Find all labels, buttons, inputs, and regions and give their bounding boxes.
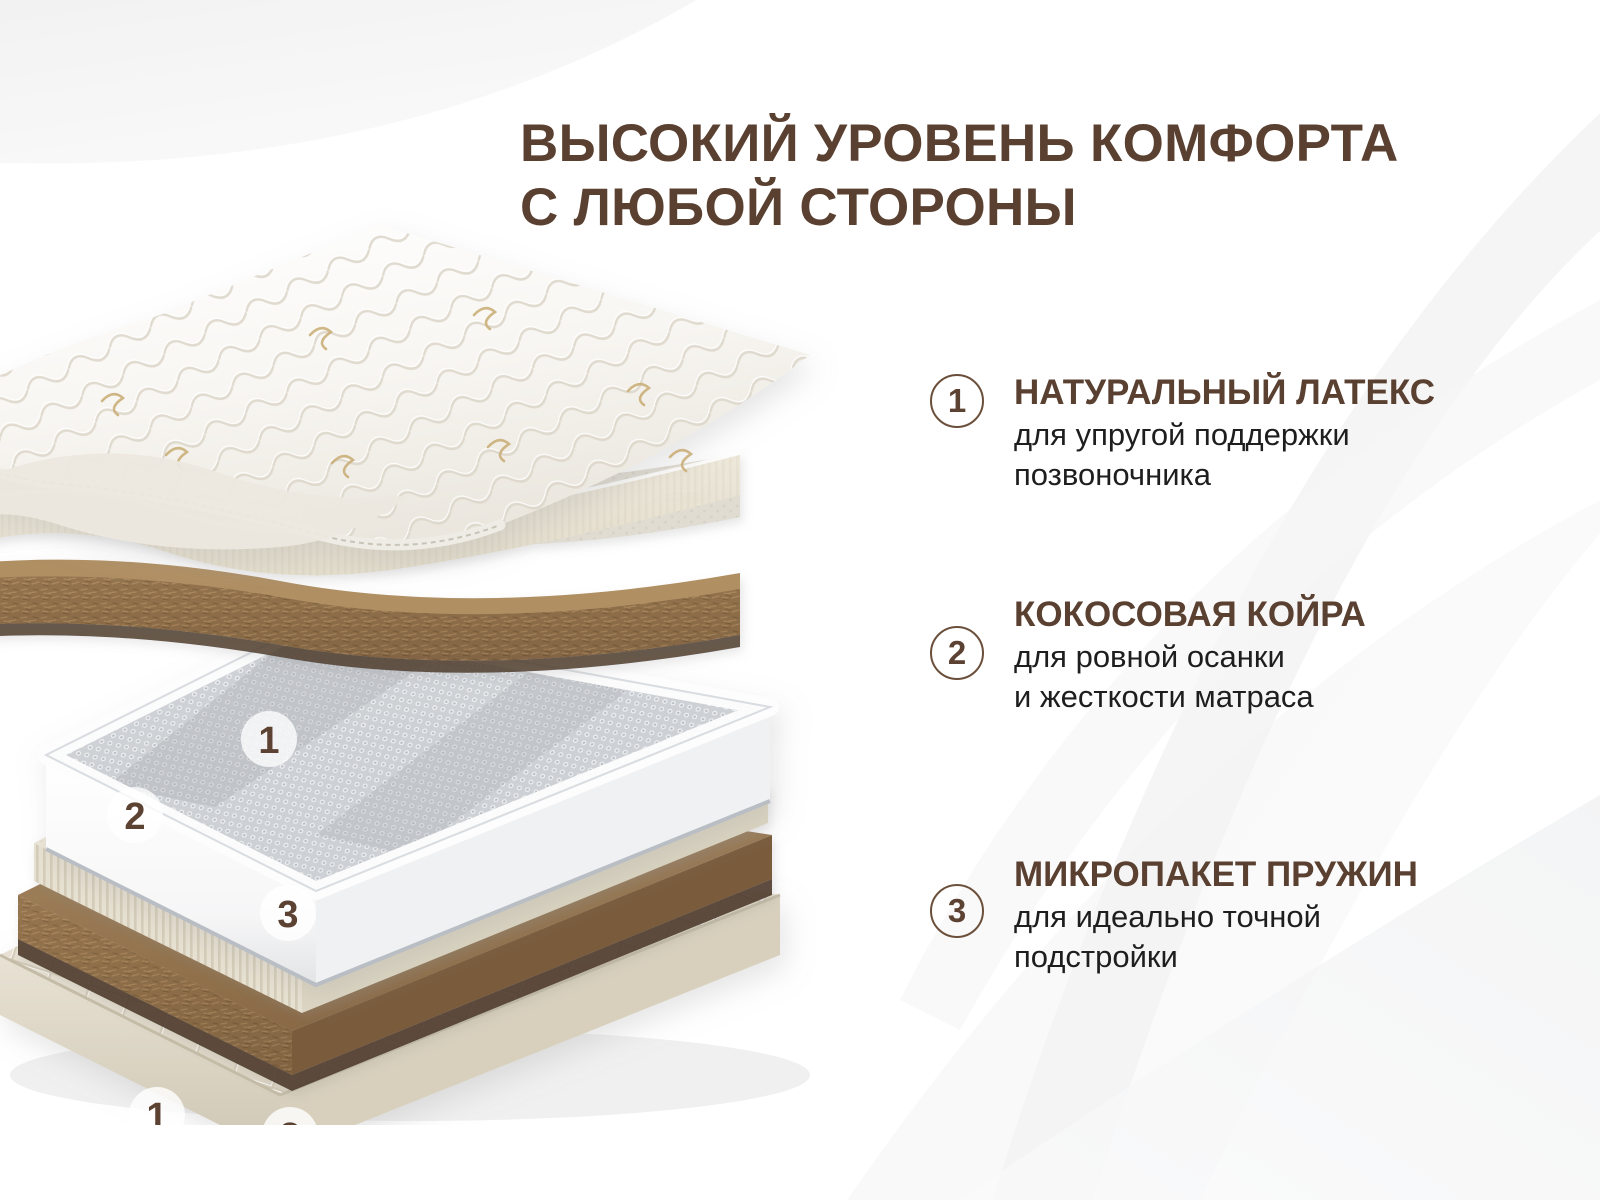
mattress-badge-1-upper: 1 <box>241 711 297 767</box>
svg-text:1: 1 <box>146 1096 167 1125</box>
feature-text-coir: КОКОСОВАЯ КОЙРА для ровной осанки и жест… <box>1014 596 1366 718</box>
feature-badge-2: 2 <box>930 626 984 680</box>
feature-item-coir: 2 КОКОСОВАЯ КОЙРА для ровной осанки и же… <box>930 596 1366 718</box>
svg-text:3: 3 <box>277 894 298 936</box>
page-title-line-1: ВЫСОКИЙ УРОВЕНЬ КОМФОРТА <box>520 112 1540 176</box>
feature-description-springs: для идеально точной подстройки <box>1014 897 1418 978</box>
svg-text:2: 2 <box>279 1116 300 1125</box>
feature-heading-springs: МИКРОПАКЕТ ПРУЖИН <box>1014 856 1418 893</box>
feature-heading-latex: НАТУРАЛЬНЫЙ ЛАТЕКС <box>1014 374 1435 411</box>
layer-coir-upper <box>0 560 740 673</box>
feature-text-latex: НАТУРАЛЬНЫЙ ЛАТЕКС для упругой поддержки… <box>1014 374 1435 496</box>
svg-text:2: 2 <box>124 796 145 838</box>
mattress-badge-2-upper: 2 <box>107 787 163 843</box>
mattress-badge-3-springs: 3 <box>260 885 316 941</box>
mattress-cutaway-illustration: 1 2 3 1 2 <box>0 195 860 1125</box>
feature-badge-3: 3 <box>930 884 984 938</box>
swoosh-bottom-right <box>900 760 1600 1200</box>
feature-item-springs: 3 МИКРОПАКЕТ ПРУЖИН для идеально точной … <box>930 856 1418 978</box>
feature-description-coir: для ровной осанки и жесткости матраса <box>1014 637 1366 718</box>
page-title-line-2: С ЛЮБОЙ СТОРОНЫ <box>520 176 1540 240</box>
feature-item-latex: 1 НАТУРАЛЬНЫЙ ЛАТЕКС для упругой поддерж… <box>930 374 1435 496</box>
feature-heading-coir: КОКОСОВАЯ КОЙРА <box>1014 596 1366 633</box>
infographic-canvas: 1 2 3 1 2 ВЫСОКИЙ УРОВЕНЬ КОМФОРТА С ЛЮБ… <box>0 0 1600 1200</box>
page-title: ВЫСОКИЙ УРОВЕНЬ КОМФОРТА С ЛЮБОЙ СТОРОНЫ <box>520 112 1540 239</box>
svg-text:1: 1 <box>258 720 279 762</box>
feature-text-springs: МИКРОПАКЕТ ПРУЖИН для идеально точной по… <box>1014 856 1418 978</box>
feature-description-latex: для упругой поддержки позвоночника <box>1014 415 1435 496</box>
feature-badge-1: 1 <box>930 374 984 428</box>
